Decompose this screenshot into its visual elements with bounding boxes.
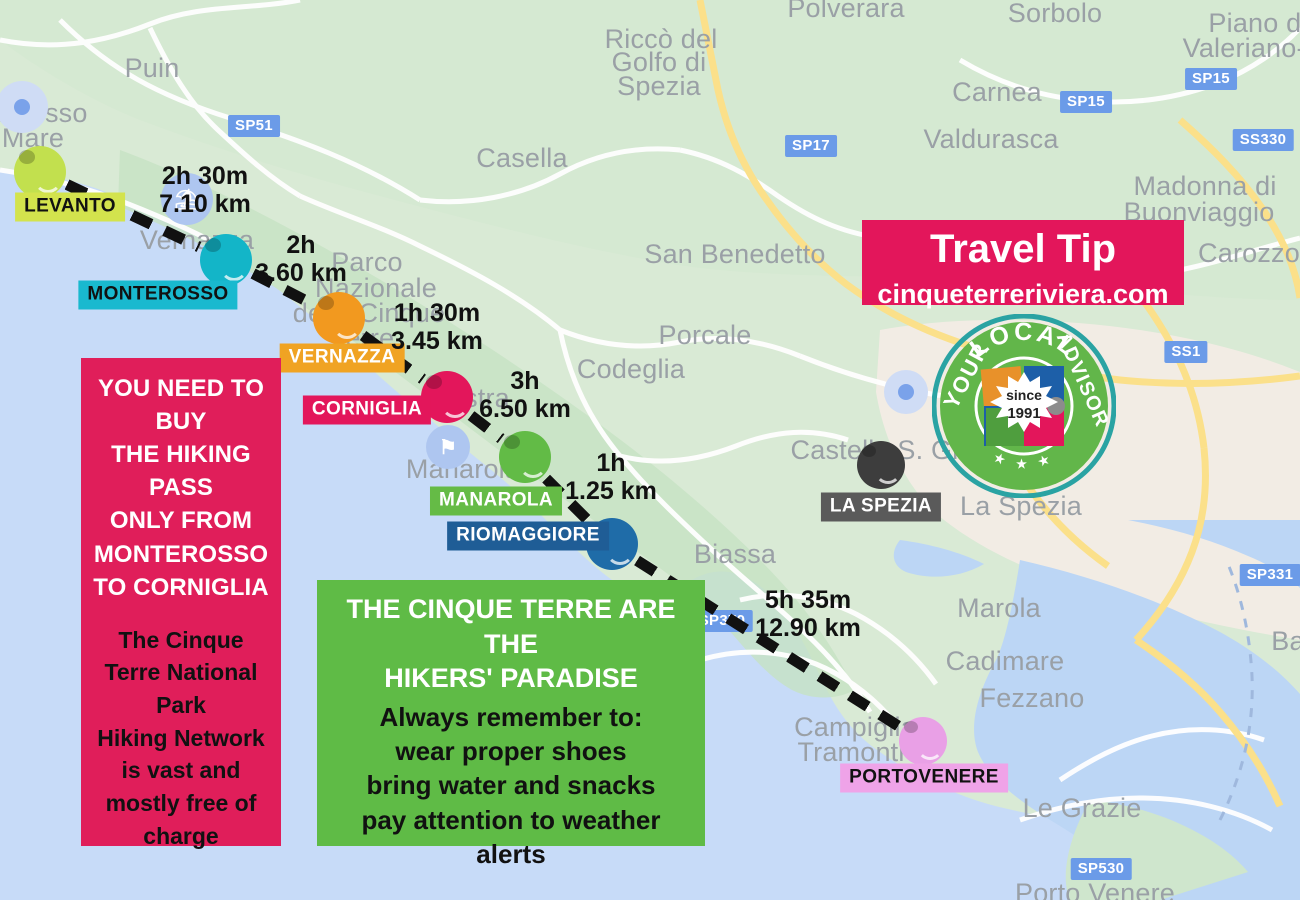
leg-distance: 1.25 km <box>565 477 657 505</box>
marker-shadow <box>504 435 520 449</box>
route-leg-label: 3h6.50 km <box>479 367 571 423</box>
hiking-pass-headline-line: TO CORNIGLIA <box>91 571 271 604</box>
hiking-pass-headline-line: THE HIKING <box>91 438 271 471</box>
marker-shadow <box>205 238 221 252</box>
hiking-pass-body-line: Terre National <box>91 656 271 689</box>
map-place-label: San Benedetto <box>644 240 825 268</box>
hiking-pass-body-line: Hiking Network <box>91 722 271 755</box>
marker-shadow <box>904 721 918 733</box>
leg-distance: 6.50 km <box>479 395 571 423</box>
badge-center-line2: 1991 <box>1007 405 1040 422</box>
map-place-label: Carozzo <box>1198 239 1300 267</box>
hiking-pass-body-line: The Cinque <box>91 624 271 657</box>
marker-highlight-arc <box>875 458 901 484</box>
road-shield: SS330 <box>1233 129 1294 151</box>
poi-glyph: ⚑ <box>439 435 457 460</box>
hikers-paradise-body: Always remember to:wear proper shoesbrin… <box>325 700 697 872</box>
hikers-paradise-headline: THE CINQUE TERRE ARE THEHIKERS' PARADISE <box>325 592 697 696</box>
town-marker-la-spezia[interactable] <box>857 441 905 489</box>
marker-highlight-arc <box>519 450 547 478</box>
leg-duration: 3h <box>479 367 571 395</box>
hiking-pass-callout: YOU NEED TOBUYTHE HIKINGPASSONLY FROMMON… <box>81 358 281 846</box>
hiking-pass-headline-line: PASS <box>91 471 271 504</box>
town-label-manarola[interactable]: MANAROLA <box>430 487 562 516</box>
place-dot-icon <box>884 370 928 414</box>
badge-center-line1: since <box>1006 387 1042 403</box>
road-shield: SS1 <box>1164 341 1207 363</box>
town-label-la-spezia[interactable]: LA SPEZIA <box>821 493 941 522</box>
leg-duration: 2h 30m <box>159 162 251 190</box>
leg-duration: 5h 35m <box>755 586 861 614</box>
town-marker-portovenere[interactable] <box>899 717 947 765</box>
hiking-pass-headline: YOU NEED TOBUYTHE HIKINGPASSONLY FROMMON… <box>91 372 271 604</box>
road-shield: SP15 <box>1060 91 1112 113</box>
map-place-label: Le Grazie <box>1023 794 1142 822</box>
hikers-paradise-body-line: alerts <box>325 837 697 871</box>
map-place-label: Cadimare <box>946 647 1065 675</box>
town-label-vernazza[interactable]: VERNAZZA <box>280 344 405 373</box>
badge-center-emblem: since 1991 <box>981 366 1065 446</box>
town-label-monterosso[interactable]: MONTEROSSO <box>78 281 237 310</box>
map-place-label: Marola <box>957 594 1041 622</box>
hikers-paradise-callout: THE CINQUE TERRE ARE THEHIKERS' PARADISE… <box>317 580 705 846</box>
hikers-paradise-body-line: wear proper shoes <box>325 734 697 768</box>
your-local-advisor-badge: LOCAL ★ ★ ★ YOUR ADVISOR <box>932 314 1116 498</box>
marker-highlight-arc <box>441 390 469 418</box>
map-place-label: Codeglia <box>577 355 685 383</box>
hikers-paradise-body-line: Always remember to: <box>325 700 697 734</box>
map-place-label: Valeriano-I <box>1183 34 1300 62</box>
map-place-label: Biassa <box>694 540 776 568</box>
route-leg-label: 1h 30m3.45 km <box>391 299 483 355</box>
marker-highlight-arc <box>220 253 248 281</box>
map-place-label: Spezia <box>617 72 701 100</box>
leg-duration: 1h 30m <box>391 299 483 327</box>
leg-distance: 12.90 km <box>755 614 861 642</box>
town-marker-levanto[interactable] <box>14 146 66 198</box>
road-shield: SP51 <box>228 115 280 137</box>
travel-tip-url[interactable]: cinqueterreriviera.com <box>862 281 1184 308</box>
map-place-label: Ba <box>1271 627 1300 655</box>
map-place-label: Porcale <box>659 321 752 349</box>
map-place-label: Casella <box>476 144 567 172</box>
leg-duration: 1h <box>565 449 657 477</box>
leg-distance: 3.60 km <box>255 259 347 287</box>
hiking-pass-headline-line: BUY <box>91 405 271 438</box>
hikers-paradise-headline-line: HIKERS' PARADISE <box>325 661 697 696</box>
town-marker-manarola[interactable] <box>499 431 551 483</box>
route-leg-label: 2h 30m7.10 km <box>159 162 251 218</box>
hikers-paradise-headline-line: THE CINQUE TERRE ARE THE <box>325 592 697 661</box>
hiking-pass-body-line: is vast and <box>91 754 271 787</box>
hiking-pass-body-line: charge <box>91 820 271 853</box>
road-shield: SP331 <box>1240 564 1300 586</box>
marker-shadow <box>318 296 334 310</box>
hiking-pass-body-line: Park <box>91 689 271 722</box>
marker-shadow <box>426 375 442 389</box>
marker-highlight-arc <box>34 165 62 193</box>
map-place-label: Carnea <box>952 78 1042 106</box>
travel-tip-title: Travel Tip <box>862 229 1184 269</box>
hikers-paradise-body-line: bring water and snacks <box>325 768 697 802</box>
hiking-pass-body: The CinqueTerre NationalParkHiking Netwo… <box>91 624 271 853</box>
badge-svg: LOCAL ★ ★ ★ YOUR ADVISOR <box>932 314 1116 498</box>
road-shield: SP530 <box>1071 858 1132 880</box>
route-leg-label: 5h 35m12.90 km <box>755 586 861 642</box>
town-label-levanto[interactable]: LEVANTO <box>15 193 125 222</box>
town-marker-vernazza[interactable] <box>313 292 365 344</box>
town-label-riomaggiore[interactable]: RIOMAGGIORE <box>447 522 609 551</box>
map-place-label: Valdurasca <box>923 125 1058 153</box>
map-place-label: Puin <box>125 54 180 82</box>
marker-shadow <box>862 445 876 457</box>
road-shield: SP17 <box>785 135 837 157</box>
travel-tip-banner[interactable]: Travel Tip cinqueterreriviera.com <box>862 220 1184 305</box>
map-place-label: Fezzano <box>980 684 1085 712</box>
hiking-pass-headline-line: YOU NEED TO <box>91 372 271 405</box>
road-shield: SP15 <box>1185 68 1237 90</box>
marker-shadow <box>19 150 35 164</box>
hiking-pass-headline-line: MONTEROSSO <box>91 538 271 571</box>
poi-dot-core <box>898 384 914 400</box>
marker-highlight-arc <box>333 311 361 339</box>
route-leg-label: 2h3.60 km <box>255 231 347 287</box>
town-marker-monterosso[interactable] <box>200 234 252 286</box>
route-leg-label: 1h1.25 km <box>565 449 657 505</box>
map-place-label: Tramonti <box>797 738 904 766</box>
leg-distance: 3.45 km <box>391 327 483 355</box>
map-place-label: Sorbolo <box>1008 0 1102 27</box>
map-screenshot: nterossoMarePuinVernazzaParcoNazionalede… <box>0 0 1300 900</box>
town-label-corniglia[interactable]: CORNIGLIA <box>303 396 431 425</box>
town-label-portovenere[interactable]: PORTOVENERE <box>840 764 1008 793</box>
marker-highlight-arc <box>606 537 634 565</box>
leg-distance: 7.10 km <box>159 190 251 218</box>
hiking-pass-body-line: mostly free of <box>91 787 271 820</box>
marker-highlight-arc <box>917 734 943 760</box>
hiking-pass-headline-line: ONLY FROM <box>91 504 271 537</box>
poi-dot-core <box>14 99 30 115</box>
leg-duration: 2h <box>255 231 347 259</box>
flag-marker-icon: ⚑ <box>426 425 470 469</box>
hikers-paradise-body-line: pay attention to weather <box>325 803 697 837</box>
map-place-label: Polverara <box>787 0 904 22</box>
map-place-label: Porto Venere <box>1015 879 1175 900</box>
